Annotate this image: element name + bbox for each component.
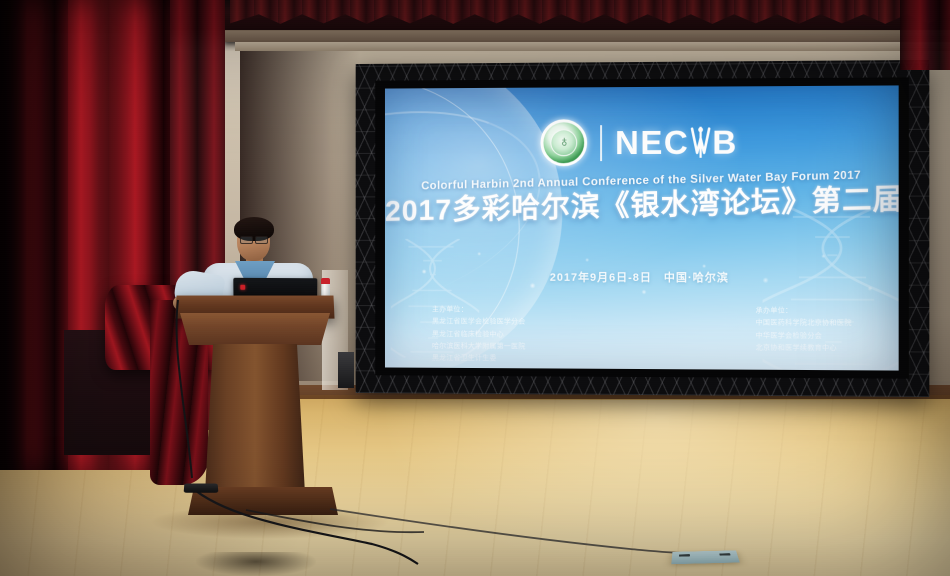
- organizer-coorg-line: 中华医学会检验分会: [756, 330, 852, 343]
- stage-photograph: ♁ N E C B: [0, 0, 950, 576]
- organizer-host-line: 黑龙江省临床检验中心: [432, 329, 526, 342]
- organizer-column-coorganizer: 承办单位： 中国医药科学院北京协和医院 中华医学会检验分会 北京协和医学续教育中…: [756, 305, 852, 367]
- black-truss-frame: ♁ N E C B: [356, 60, 930, 397]
- projection-screen: ♁ N E C B: [385, 85, 899, 370]
- organizer-host-label: 主办单位：: [432, 304, 526, 316]
- slide-date-location: 2017年9月6日-8日 中国·哈尔滨: [385, 269, 899, 286]
- floor-cable: [330, 505, 690, 565]
- water-bottle-cap: [321, 278, 330, 284]
- necwb-brand-text: N E C B: [615, 126, 738, 160]
- logo-separator: [601, 125, 602, 161]
- organizer-host-line: 哈尔滨医科大学附属第一医院: [432, 341, 526, 354]
- brand-letter-n: N: [615, 126, 640, 159]
- organizer-coorg-line: 北京协和医学续教育中心: [756, 342, 852, 355]
- brand-letter-b: B: [712, 126, 738, 159]
- organizer-host-line: 黑龙江省医学会检验医学分会: [432, 316, 526, 329]
- organizer-column-host: 主办单位： 黑龙江省医学会检验医学分会 黑龙江省临床检验中心 哈尔滨医科大学附属…: [432, 304, 526, 365]
- green-circular-emblem-icon: ♁: [541, 119, 588, 166]
- brand-letter-c: C: [664, 126, 689, 159]
- floor-shadow-patch: [196, 552, 316, 576]
- emblem-inner-glyph: ♁: [551, 129, 578, 156]
- red-velvet-curtain: [900, 0, 950, 70]
- proscenium-cornice-lower: [235, 42, 950, 51]
- microphone-receiver-box: [184, 484, 219, 493]
- speaker-glasses-icon: [240, 236, 268, 242]
- brand-letter-w-caduceus-icon: [690, 127, 711, 158]
- organizer-coorg-line: 中国医药科学院北京协和医院: [756, 318, 852, 331]
- floor-cable-plate: [671, 550, 740, 564]
- brand-letter-e: E: [640, 126, 664, 159]
- organizer-host-line: 黑龙江省卫生计生委: [432, 353, 526, 366]
- organizer-coorg-label: 承办单位：: [756, 305, 852, 318]
- slide-logo-row: ♁ N E C B: [385, 118, 899, 167]
- slide-organizers: 主办单位： 黑龙江省医学会检验医学分会 黑龙江省临床检验中心 哈尔滨医科大学附属…: [432, 304, 852, 367]
- stage-equipment-box: [338, 352, 354, 388]
- projected-slide: ♁ N E C B: [385, 85, 899, 370]
- laptop-logo-icon: [240, 285, 245, 290]
- curtain-shadow: [0, 0, 62, 470]
